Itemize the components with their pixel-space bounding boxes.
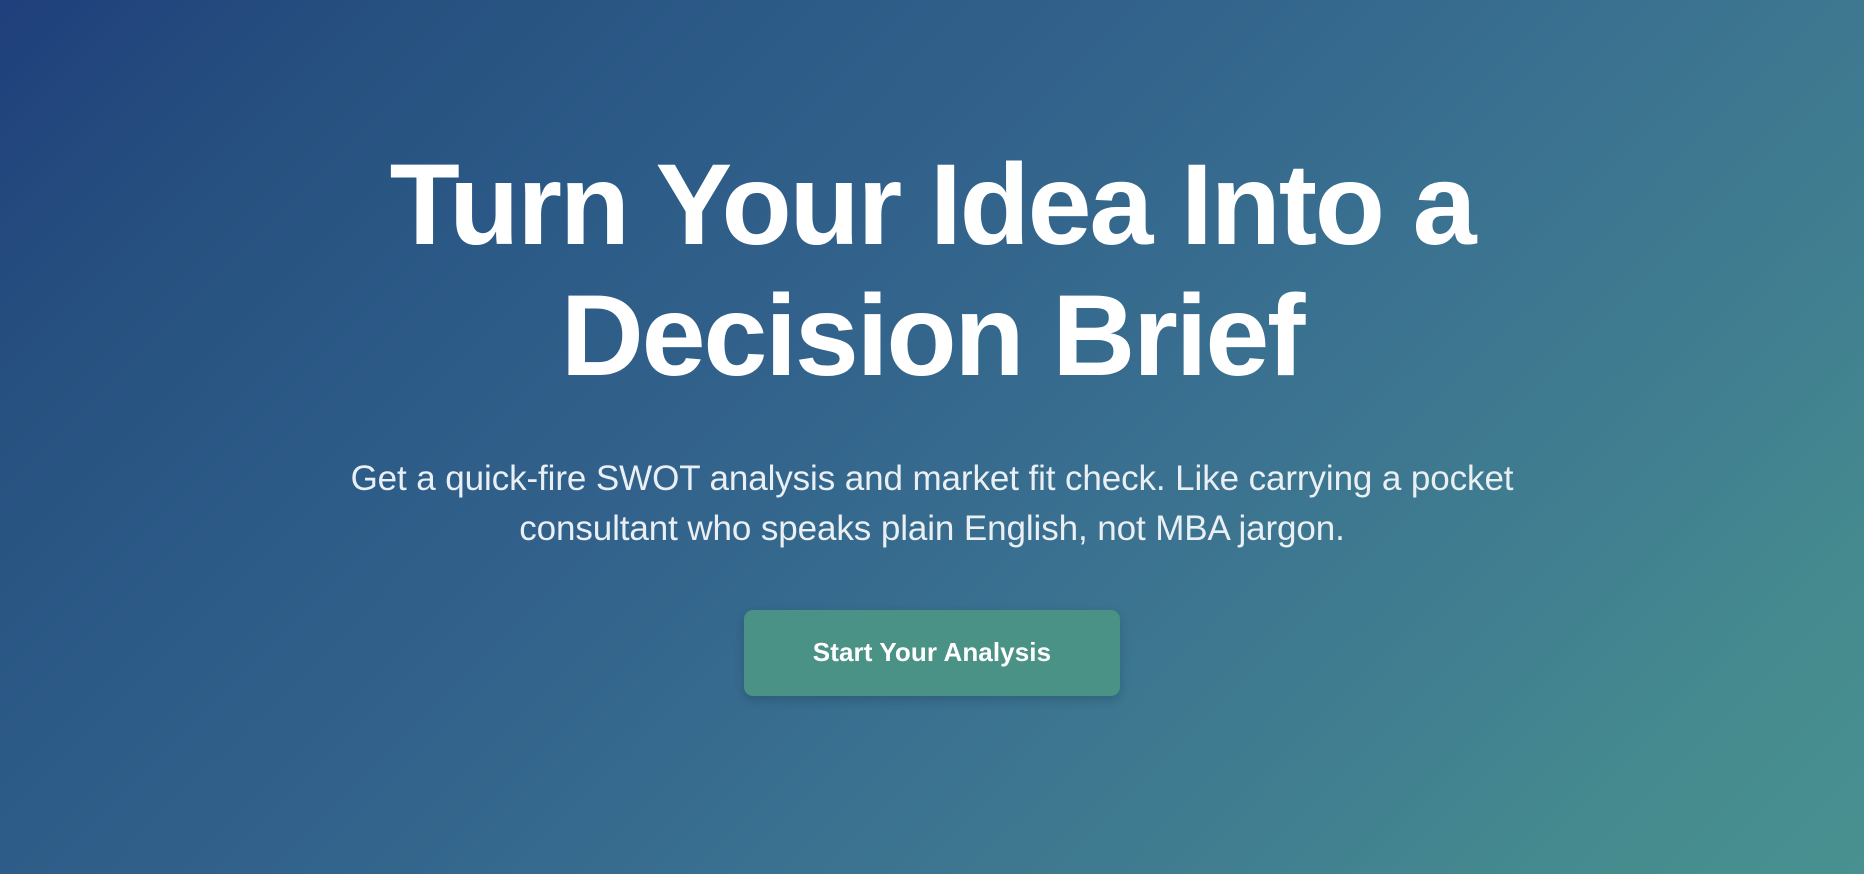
start-your-analysis-button[interactable]: Start Your Analysis — [744, 610, 1120, 696]
hero-content: Turn Your Idea Into a Decision Brief Get… — [182, 140, 1682, 696]
page-title-line-2: Decision Brief — [561, 272, 1303, 400]
page-title-line-1: Turn Your Idea Into a — [390, 141, 1475, 269]
page-title: Turn Your Idea Into a Decision Brief — [390, 140, 1475, 402]
hero-section: Turn Your Idea Into a Decision Brief Get… — [0, 0, 1864, 874]
page-subtitle: Get a quick-fire SWOT analysis and marke… — [351, 454, 1514, 553]
page-subtitle-line-2: consultant who speaks plain English, not… — [519, 509, 1345, 548]
cta-container: Start Your Analysis — [744, 610, 1120, 696]
page-subtitle-line-1: Get a quick-fire SWOT analysis and marke… — [351, 459, 1514, 498]
